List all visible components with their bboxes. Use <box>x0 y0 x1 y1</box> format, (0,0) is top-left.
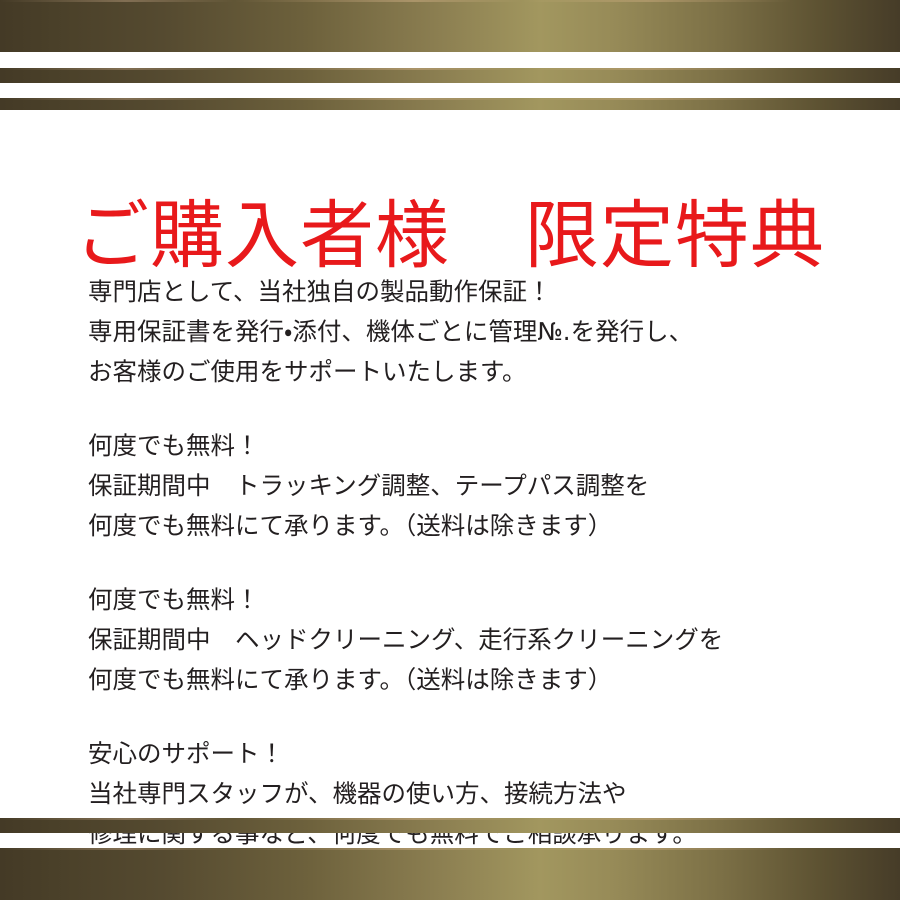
top-mid-gold-band <box>0 68 900 83</box>
paragraph-line: 専門店として、当社独自の製品動作保証！ <box>88 272 848 312</box>
paragraph-line: 当社専門スタッフが、機器の使い方、接続方法や <box>88 774 848 814</box>
paragraph-tracking-adjustment: 何度でも無料！ 保証期間中 トラッキング調整、テープパス調整を 何度でも無料にて… <box>88 426 848 546</box>
promotional-poster: ご購入者様 限定特典 専門店として、当社独自の製品動作保証！ 専用保証書を発行・… <box>0 0 900 900</box>
paragraph-line: 専用保証書を発行・添付、機体ごとに管理№.を発行し、 <box>88 312 848 352</box>
paragraph-line: 何度でも無料にて承ります。（送料は除きます） <box>88 660 848 700</box>
paragraph-warranty: 専門店として、当社独自の製品動作保証！ 専用保証書を発行・添付、機体ごとに管理№… <box>88 272 848 392</box>
paragraph-line: 何度でも無料！ <box>88 426 848 466</box>
bottom-thick-gold-band <box>0 848 900 900</box>
paragraph-head-cleaning: 何度でも無料！ 保証期間中 ヘッドクリーニング、走行系クリーニングを 何度でも無… <box>88 580 848 700</box>
paragraph-line: 何度でも無料にて承ります。（送料は除きます） <box>88 506 848 546</box>
benefits-body-copy: 専門店として、当社独自の製品動作保証！ 専用保証書を発行・添付、機体ごとに管理№… <box>88 272 848 854</box>
paragraph-line: 保証期間中 トラッキング調整、テープパス調整を <box>88 466 848 506</box>
bottom-thin-gold-band <box>0 818 900 833</box>
top-thin-gold-band <box>0 98 900 110</box>
paragraph-support: 安心のサポート！ 当社専門スタッフが、機器の使い方、接続方法や 修理に関する事な… <box>88 734 848 854</box>
paragraph-line: 何度でも無料！ <box>88 580 848 620</box>
paragraph-line: お客様のご使用をサポートいたします。 <box>88 352 848 392</box>
paragraph-line: 保証期間中 ヘッドクリーニング、走行系クリーニングを <box>88 620 848 660</box>
paragraph-line: 安心のサポート！ <box>88 734 848 774</box>
page-title: ご購入者様 限定特典 <box>0 193 900 279</box>
top-thick-gold-band <box>0 0 900 52</box>
